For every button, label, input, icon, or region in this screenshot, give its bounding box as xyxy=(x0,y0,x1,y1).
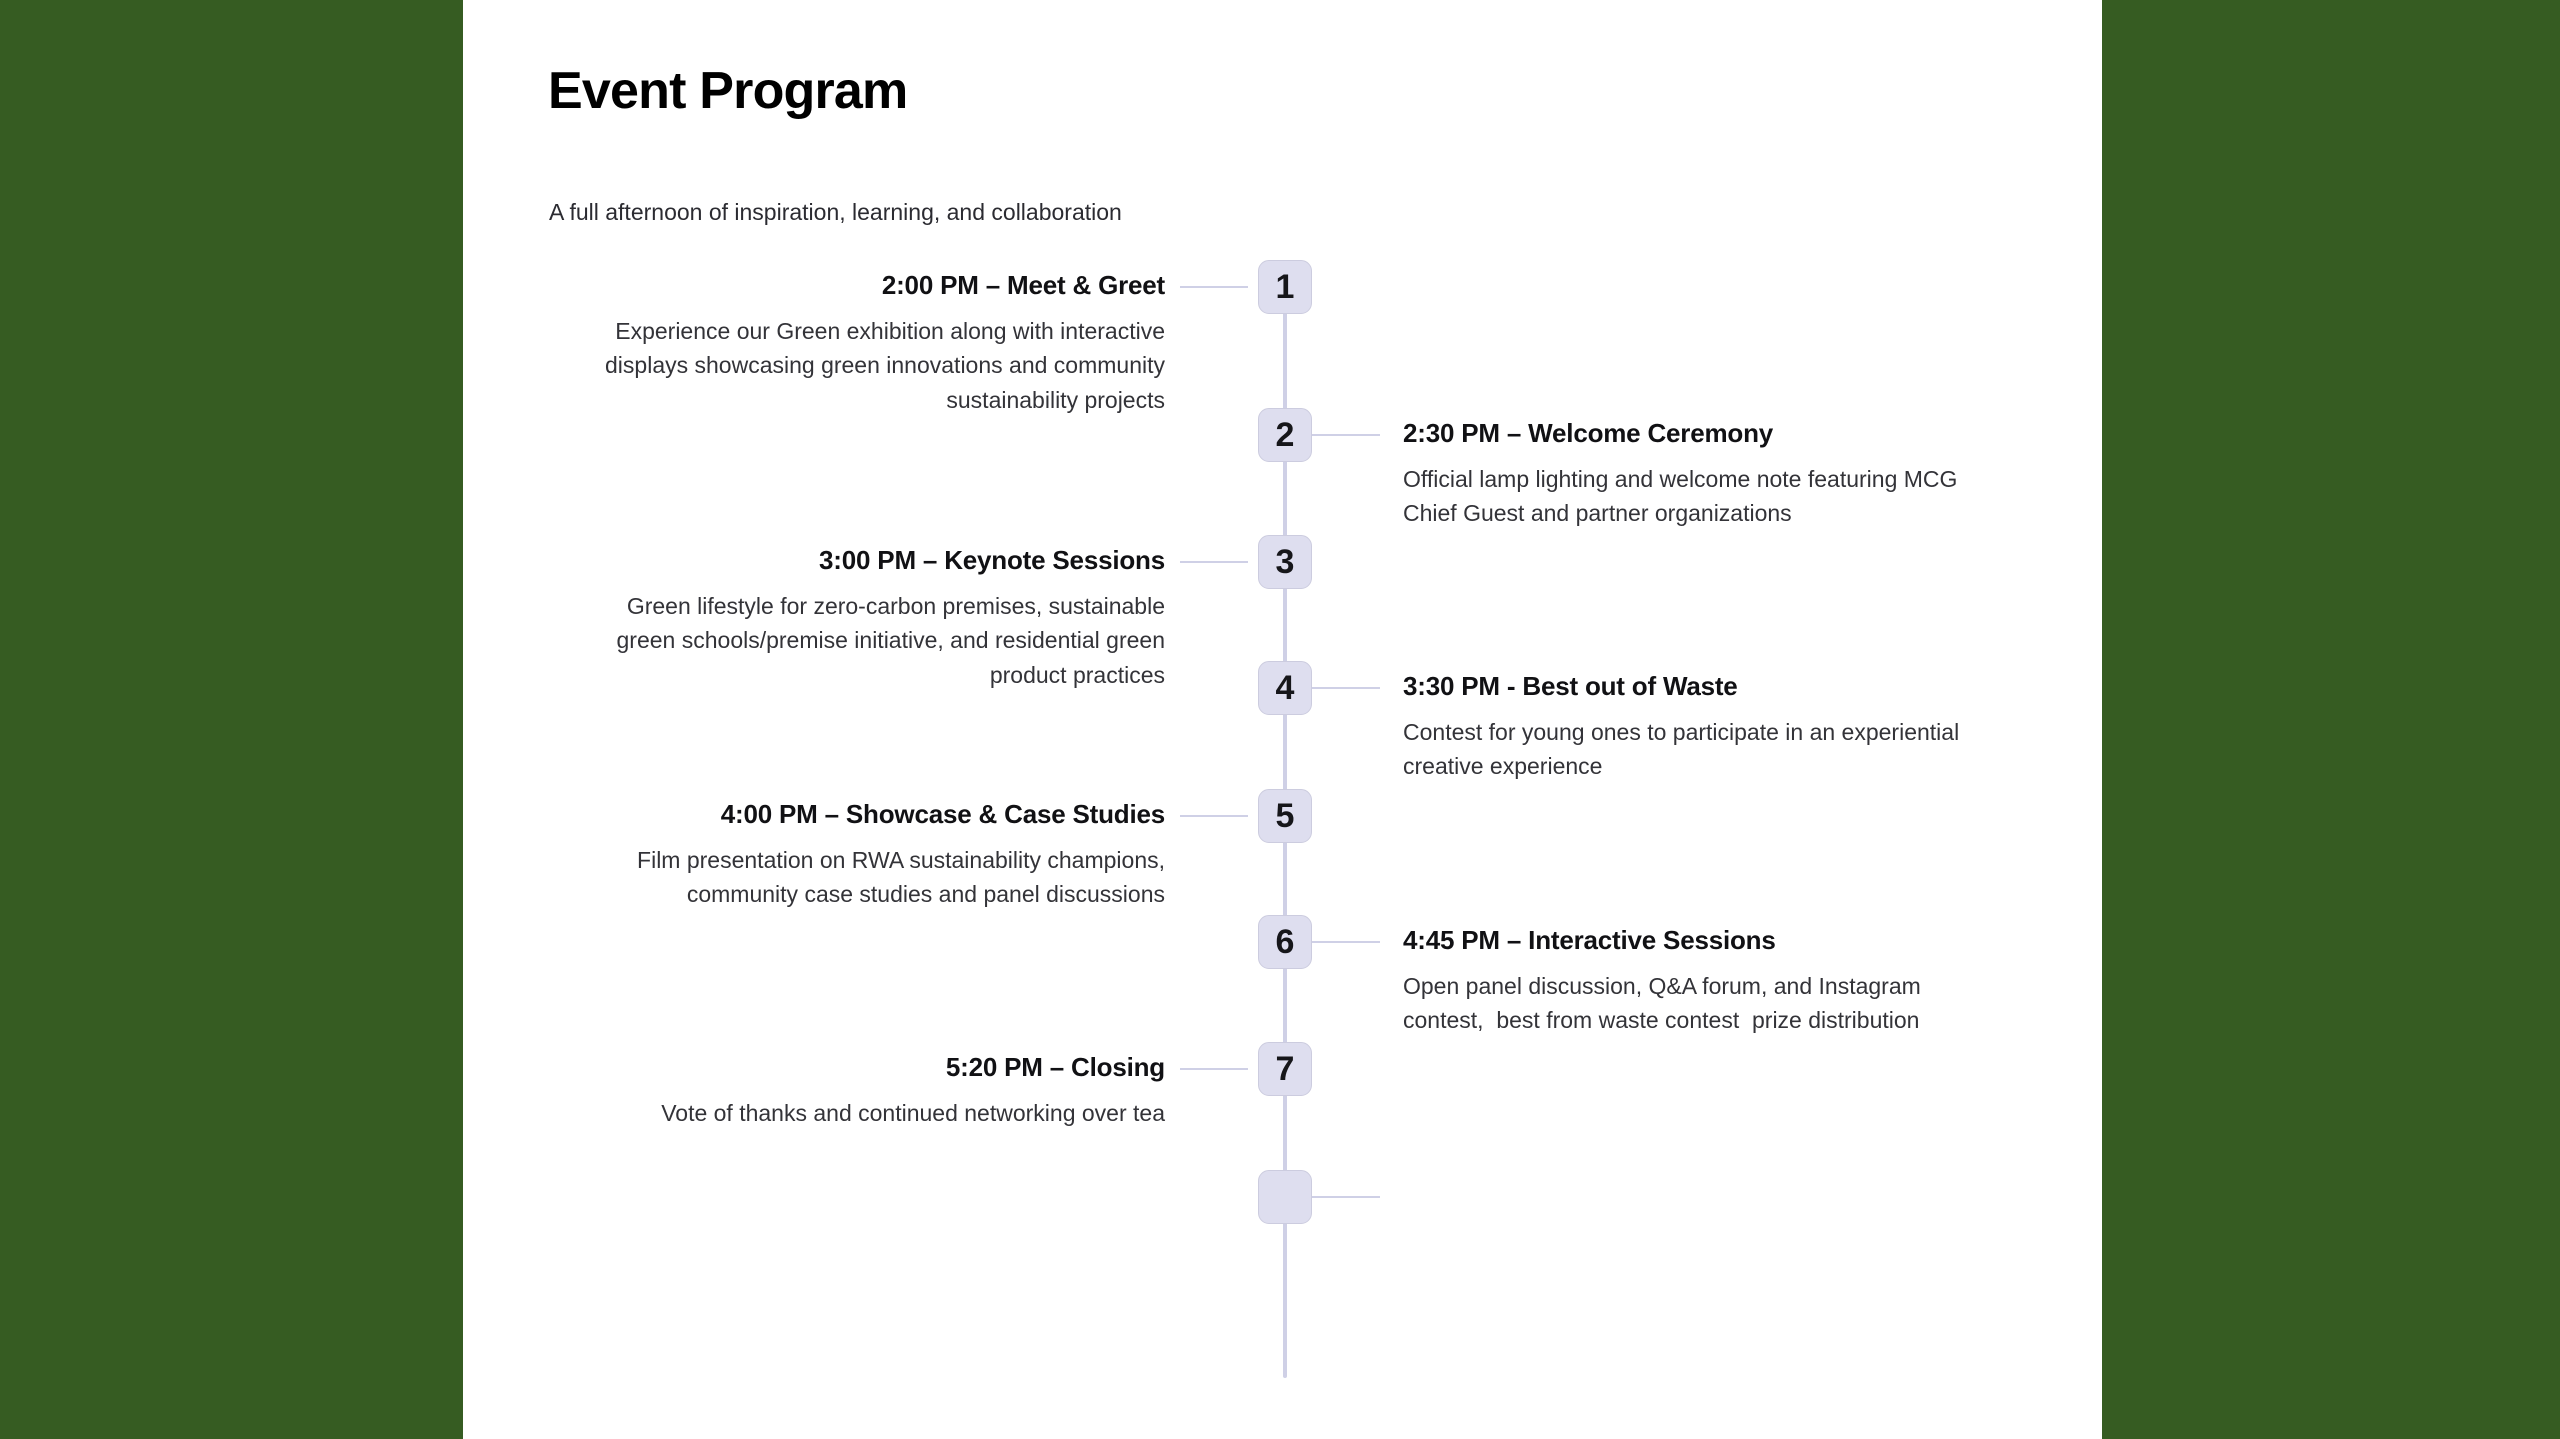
timeline-entry-description: Experience our Green exhibition along wi… xyxy=(525,314,1165,419)
timeline-entry: 4:45 PM – Interactive SessionsOpen panel… xyxy=(1403,924,2043,1038)
timeline-connector xyxy=(1180,561,1248,563)
timeline-entry: 2:30 PM – Welcome CeremonyOfficial lamp … xyxy=(1403,417,2043,531)
timeline-entry-description: Film presentation on RWA sustainability … xyxy=(525,843,1165,913)
timeline-marker-badge[interactable]: 7 xyxy=(1258,1042,1312,1096)
timeline-entry-title: 2:00 PM – Meet & Greet xyxy=(525,269,1165,302)
timeline-entry-title: 2:30 PM – Welcome Ceremony xyxy=(1403,417,2043,450)
timeline-connector xyxy=(1312,687,1380,689)
timeline-entry: 2:00 PM – Meet & GreetExperience our Gre… xyxy=(525,269,1165,418)
timeline-entry-description: Open panel discussion, Q&A forum, and In… xyxy=(1403,969,2043,1039)
timeline-connector xyxy=(1180,286,1248,288)
page-title: Event Program xyxy=(548,62,908,122)
timeline-entry-description: Official lamp lighting and welcome note … xyxy=(1403,462,2043,532)
timeline-marker-badge[interactable] xyxy=(1258,1170,1312,1224)
timeline-entry-title: 4:45 PM – Interactive Sessions xyxy=(1403,924,2043,957)
timeline-entry-description: Contest for young ones to participate in… xyxy=(1403,715,2033,785)
timeline-marker-badge[interactable]: 5 xyxy=(1258,789,1312,843)
timeline-connector xyxy=(1312,434,1380,436)
page-subtitle: A full afternoon of inspiration, learnin… xyxy=(549,196,1122,228)
timeline-marker-badge[interactable]: 4 xyxy=(1258,661,1312,715)
timeline-connector xyxy=(1312,941,1380,943)
timeline-connector xyxy=(1180,1068,1248,1070)
timeline-connector xyxy=(1312,1196,1380,1198)
timeline-entry: 4:00 PM – Showcase & Case StudiesFilm pr… xyxy=(525,798,1165,912)
timeline-marker-badge[interactable]: 2 xyxy=(1258,408,1312,462)
timeline-entry-title: 3:30 PM - Best out of Waste xyxy=(1403,670,2043,703)
timeline-marker-badge[interactable]: 6 xyxy=(1258,915,1312,969)
slide-canvas: Event Program A full afternoon of inspir… xyxy=(0,0,2560,1439)
timeline-entry-title: 3:00 PM – Keynote Sessions xyxy=(525,544,1165,577)
timeline-marker-badge[interactable]: 1 xyxy=(1258,260,1312,314)
timeline-entry: 3:30 PM - Best out of WasteContest for y… xyxy=(1403,670,2043,784)
timeline-entry-description: Green lifestyle for zero-carbon premises… xyxy=(525,589,1165,694)
timeline-entry-description: Vote of thanks and continued networking … xyxy=(525,1096,1165,1131)
timeline-entry-title: 5:20 PM – Closing xyxy=(525,1051,1165,1084)
timeline-entry-title: 4:00 PM – Showcase & Case Studies xyxy=(525,798,1165,831)
timeline-marker-badge[interactable]: 3 xyxy=(1258,535,1312,589)
timeline-entry: 5:20 PM – ClosingVote of thanks and cont… xyxy=(525,1051,1165,1130)
timeline-entry: 3:00 PM – Keynote SessionsGreen lifestyl… xyxy=(525,544,1165,693)
timeline-connector xyxy=(1180,815,1248,817)
